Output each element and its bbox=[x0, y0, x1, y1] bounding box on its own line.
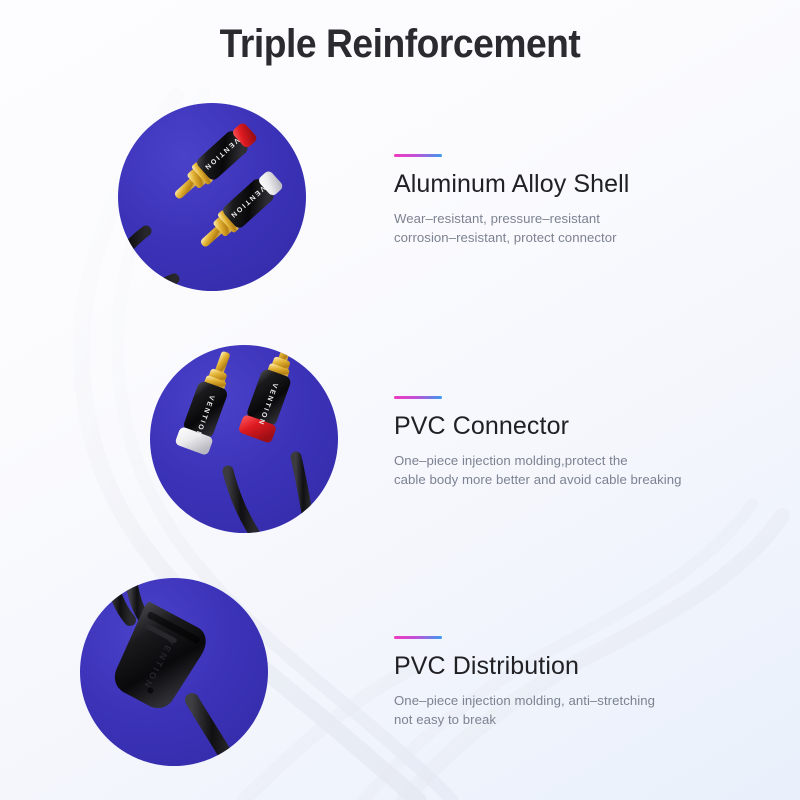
feature-text-02: 02 PVC Connector One–piece injection mol… bbox=[394, 354, 682, 489]
feature-image-03: VENTION bbox=[80, 578, 268, 766]
cable-splitter-illustration-03: VENTION bbox=[80, 578, 268, 766]
feature-desc-line-1: One–piece injection molding, anti–stretc… bbox=[394, 691, 655, 710]
feature-number-underline-03 bbox=[394, 636, 442, 639]
page-title: Triple Reinforcement bbox=[28, 22, 772, 67]
feature-description-02: One–piece injection molding,protect the … bbox=[394, 451, 682, 489]
feature-number-01: 01 bbox=[394, 112, 441, 150]
feature-text-03: 03 PVC Distribution One–piece injection … bbox=[394, 594, 655, 729]
feature-desc-line-1: One–piece injection molding,protect the bbox=[394, 451, 682, 470]
feature-desc-line-2: corrosion–resistant, protect connector bbox=[394, 228, 629, 247]
feature-heading-02: PVC Connector bbox=[394, 412, 682, 441]
feature-desc-line-1: Wear–resistant, pressure–resistant bbox=[394, 209, 629, 228]
feature-description-01: Wear–resistant, pressure–resistant corro… bbox=[394, 209, 629, 247]
rca-plugs-illustration-02: VENTION VENTION bbox=[150, 345, 338, 533]
feature-number-03: 03 bbox=[394, 594, 441, 632]
feature-heading-03: PVC Distribution bbox=[394, 652, 655, 681]
feature-image-01: VENTION VENTION bbox=[118, 103, 306, 291]
feature-number-02: 02 bbox=[394, 354, 441, 392]
feature-heading-01: Aluminum Alloy Shell bbox=[394, 170, 629, 199]
feature-description-03: One–piece injection molding, anti–stretc… bbox=[394, 691, 655, 729]
feature-text-01: 01 Aluminum Alloy Shell Wear–resistant, … bbox=[394, 112, 629, 247]
feature-number-underline-02 bbox=[394, 396, 442, 399]
rca-connectors-illustration-01: VENTION VENTION bbox=[118, 103, 306, 291]
feature-desc-line-2: not easy to break bbox=[394, 710, 655, 729]
feature-image-02: VENTION VENTION bbox=[150, 345, 338, 533]
feature-number-underline-01 bbox=[394, 154, 442, 157]
feature-desc-line-2: cable body more better and avoid cable b… bbox=[394, 470, 682, 489]
